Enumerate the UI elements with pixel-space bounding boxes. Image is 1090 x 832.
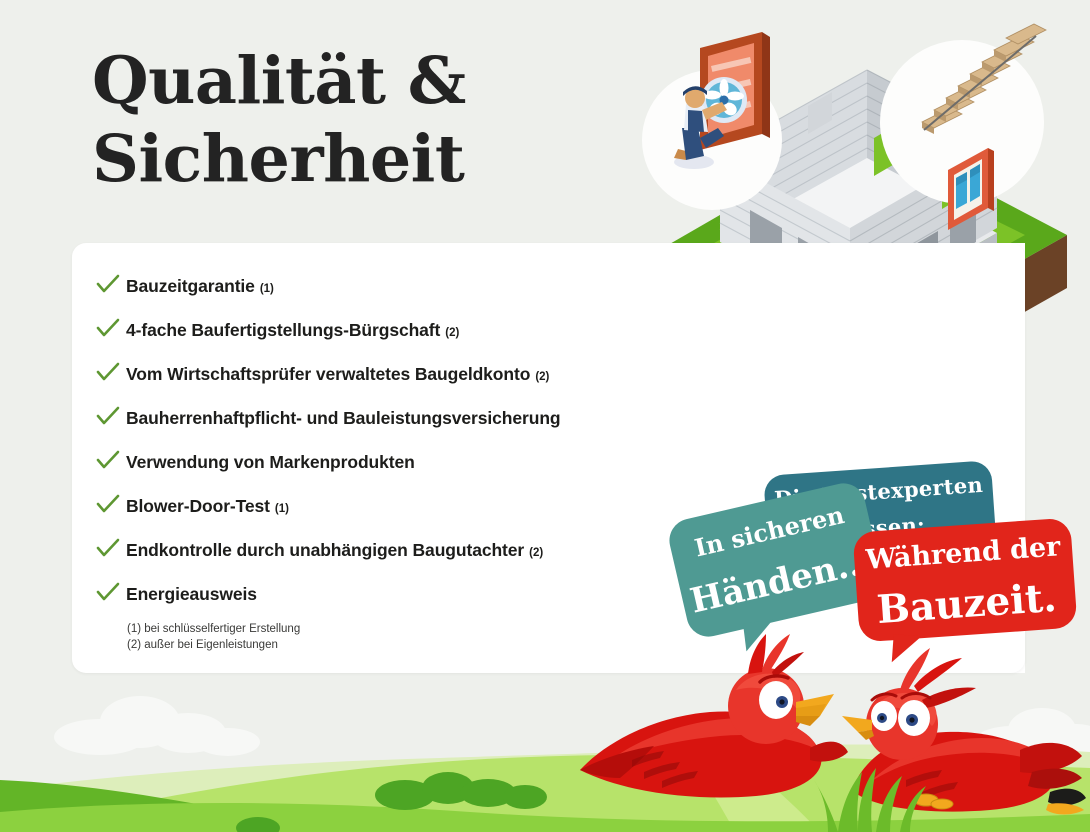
check-icon — [96, 450, 126, 470]
list-item-label: Energieausweis — [126, 584, 257, 605]
bubble-tail — [892, 634, 922, 664]
page-title: Qualität & Sicherheit — [92, 42, 466, 198]
footnote-2: (2) außer bei Eigenleistungen — [127, 637, 300, 653]
list-item: Energieausweis — [96, 580, 676, 624]
list-item-label: Verwendung von Markenprodukten — [126, 452, 415, 473]
list-item-note: (2) — [535, 371, 549, 383]
list-item-note: (1) — [260, 283, 274, 295]
list-item: 4-fache Baufertigstellungs-Bürgschaft (2… — [96, 316, 676, 360]
footnotes: (1) bei schlüsselfertiger Erstellung (2)… — [127, 621, 300, 653]
list-item-note: (2) — [529, 547, 543, 559]
list-item: Blower-Door-Test (1) — [96, 492, 676, 536]
bird-right — [842, 648, 1086, 815]
bubble-tail — [743, 620, 776, 651]
birds-illustration — [570, 620, 1090, 832]
footnote-1: (1) bei schlüsselfertiger Erstellung — [127, 621, 300, 637]
bird-tail-tip — [1046, 789, 1086, 815]
checklist: Bauzeitgarantie (1) 4-fache Baufertigste… — [96, 272, 676, 624]
speech-bubble-bauzeit: Während der Bauzeit. — [852, 518, 1077, 643]
list-item-note: (2) — [445, 327, 459, 339]
check-icon — [96, 538, 126, 558]
list-item: Vom Wirtschaftsprüfer verwaltetes Baugel… — [96, 360, 676, 404]
check-icon — [96, 274, 126, 294]
list-item: Verwendung von Markenprodukten — [96, 448, 676, 492]
bird-left — [580, 634, 848, 798]
check-icon — [96, 406, 126, 426]
list-item-label: Vom Wirtschaftsprüfer verwaltetes Baugel… — [126, 364, 530, 385]
infographic-stage: Qualität & Sicherheit Bauzeitgarantie (1… — [0, 0, 1090, 832]
list-item-note: (1) — [275, 503, 289, 515]
check-icon — [96, 362, 126, 382]
list-item-label: Blower-Door-Test — [126, 496, 270, 517]
list-item-label: Bauherrenhaftpflicht- und Bauleistungsve… — [126, 408, 561, 429]
list-item: Endkontrolle durch unabhängigen Baugutac… — [96, 536, 676, 580]
check-icon — [96, 318, 126, 338]
list-item-label: Bauzeitgarantie — [126, 276, 255, 297]
list-item: Bauzeitgarantie (1) — [96, 272, 676, 316]
check-icon — [96, 494, 126, 514]
check-icon — [96, 582, 126, 602]
list-item-label: 4-fache Baufertigstellungs-Bürgschaft — [126, 320, 440, 341]
list-item-label: Endkontrolle durch unabhängigen Baugutac… — [126, 540, 524, 561]
list-item: Bauherrenhaftpflicht- und Bauleistungsve… — [96, 404, 676, 448]
